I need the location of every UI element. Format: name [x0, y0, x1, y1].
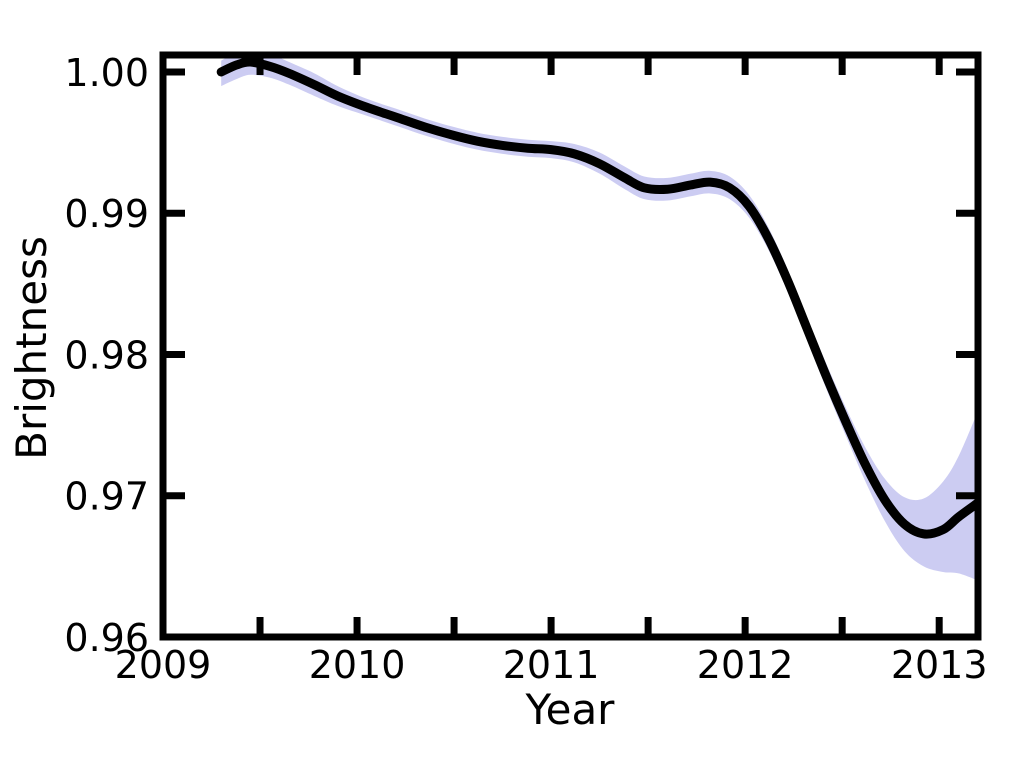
y-tick-label: 0.96	[64, 616, 149, 660]
y-tick-label: 0.99	[64, 192, 149, 236]
y-tick-label: 1.00	[64, 51, 149, 95]
y-tick-label: 0.97	[64, 475, 149, 519]
y-axis-title: Brightness	[7, 236, 56, 460]
y-tick-label: 0.98	[64, 333, 149, 377]
x-tick-label: 2012	[697, 643, 794, 687]
brightness-chart-figure: 20092010201120122013 0.960.970.980.991.0…	[0, 0, 1024, 768]
brightness-vs-year-plot: 20092010201120122013 0.960.970.980.991.0…	[0, 0, 1024, 768]
x-tick-label: 2013	[891, 643, 988, 687]
x-tick-label: 2010	[309, 643, 406, 687]
x-tick-label: 2011	[503, 643, 600, 687]
x-axis-title: Year	[525, 685, 616, 734]
